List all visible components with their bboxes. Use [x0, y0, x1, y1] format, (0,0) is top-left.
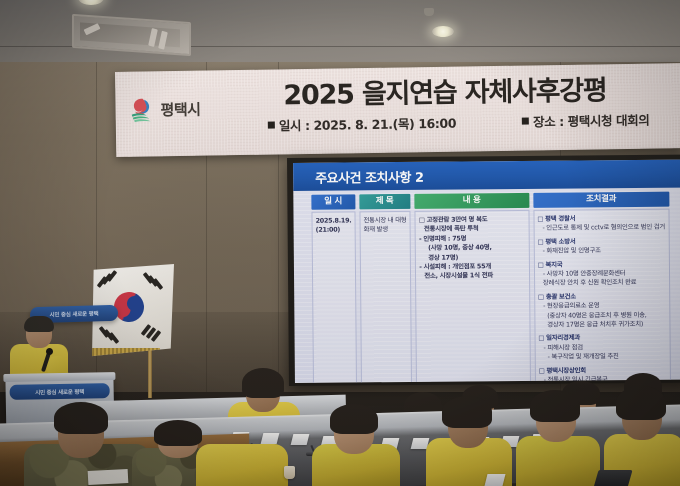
attendee-hair — [54, 402, 108, 434]
cell-result: □ 평택 경찰서 - 인근도로 통제 및 cctv로 혐의인으로 범인 검거 □… — [533, 209, 671, 383]
vent-blade — [148, 28, 158, 47]
vent-blade — [158, 31, 168, 50]
conference-room-photo: 평택시 2025 을지연습 자체사후강평 일시 : 2025. 8. 21.(목… — [0, 0, 680, 486]
table-row: 2025.8.19. (21:00) 전통시장 내 대형 화재 발생 □ 고정관… — [311, 209, 671, 383]
banner-subitem-text: 장소 : 평택시청 대회의 — [533, 110, 650, 131]
banner-subtitle-row: 일시 : 2025. 8. 21.(목) 16:00 장소 : 평택시청 대회의 — [268, 110, 650, 135]
banner-subitem-text: 일시 : 2025. 8. 21.(목) 16:00 — [279, 113, 456, 135]
attendee-uniform — [196, 444, 288, 486]
cell-line: 경상자 17명은 응급 처치후 귀가조치) — [538, 320, 666, 331]
banner-title: 2025 을지연습 자체사후강평 — [283, 68, 607, 112]
column-header-datetime: 일 시 — [311, 194, 355, 209]
paper-cup — [284, 466, 295, 479]
speaker-hair — [24, 316, 54, 332]
trigram-bar — [107, 270, 118, 282]
attendee-uniform — [516, 436, 600, 486]
cell-line: 화재 발생 — [364, 225, 407, 235]
attendee — [516, 392, 600, 486]
cell-line: (21:00) — [316, 226, 352, 236]
attendee-hair — [242, 368, 284, 398]
attendee — [426, 396, 512, 486]
ceiling-downlight — [78, 0, 104, 5]
cell-line: - 인근도로 통제 및 cctv로 혐의인으로 범인 검거 — [537, 223, 665, 234]
slide-table: 일 시 제 목 내 용 조치결과 2025.8.19. (21:00) 전통시장… — [311, 192, 671, 383]
microphone-head-icon — [46, 348, 53, 355]
sprinkler-head-icon — [424, 8, 434, 16]
banner-subitem-datetime: 일시 : 2025. 8. 21.(목) 16:00 — [268, 113, 456, 135]
podium-top-surface — [3, 372, 115, 382]
slide-title: 주요사건 조치사항 2 — [315, 166, 423, 186]
attendee-hair — [442, 396, 492, 428]
bullet-square-icon — [522, 118, 529, 125]
slide-header: 주요사건 조치사항 2 — [293, 160, 680, 191]
cell-subject: 전통시장 내 대형 화재 발생 — [359, 211, 412, 383]
column-header-subject: 제 목 — [359, 194, 411, 209]
attendee-hair — [616, 386, 666, 420]
cell-content: □ 고정관람 3만여 명 복도 전통시장에 폭탄 투척 - 인명피해 : 75명… — [415, 210, 531, 383]
cell-line: - 복구작업 및 재개장일 추진 — [539, 352, 667, 363]
attendee — [196, 420, 288, 486]
attendee-hair — [330, 404, 378, 434]
cell-line: 전소, 시장시설물 1식 전파 — [419, 271, 526, 281]
air-conditioner-vent — [72, 14, 191, 56]
podium-sign: 시민 중심 새로운 평택 — [10, 383, 110, 400]
laptop — [593, 470, 632, 486]
cell-line: - 화재진압 및 인명구조 — [538, 246, 666, 257]
vent-blade — [84, 23, 101, 35]
podium-sign-text: 시민 중심 새로운 평택 — [35, 387, 84, 396]
document-sheet — [88, 469, 129, 485]
column-header-result: 조치결과 — [533, 192, 670, 208]
bullet-square-icon — [268, 121, 275, 128]
korean-national-flag — [104, 268, 192, 398]
column-header-content: 내 용 — [414, 193, 529, 209]
cell-datetime: 2025.8.19. (21:00) — [311, 211, 356, 383]
nameplate — [485, 474, 506, 486]
attendee-hair — [530, 390, 580, 422]
pyeongtaek-city-logo-icon — [129, 97, 155, 122]
attendee — [312, 404, 400, 486]
slide-table-header-row: 일 시 제 목 내 용 조치결과 — [311, 192, 669, 210]
banner-logo-label: 평택시 — [160, 99, 200, 121]
attendee-hair — [154, 420, 202, 446]
projection-screen: 주요사건 조치사항 2 일 시 제 목 내 용 조치결과 2025.8.19. … — [287, 155, 680, 386]
ceiling — [0, 0, 680, 70]
cell-line: 2025.8.19. — [316, 216, 352, 226]
event-banner: 평택시 2025 을지연습 자체사후강평 일시 : 2025. 8. 21.(목… — [115, 63, 680, 157]
nameplate — [291, 434, 310, 445]
ceiling-downlight — [432, 26, 454, 37]
presentation-slide: 주요사건 조치사항 2 일 시 제 목 내 용 조치결과 2025.8.19. … — [293, 160, 680, 383]
banner-logo: 평택시 — [129, 97, 200, 123]
banner-subitem-venue: 장소 : 평택시청 대회의 — [522, 110, 650, 131]
cell-line: 장례식장 안치 후 신원 확인조치 완료 — [538, 278, 666, 289]
